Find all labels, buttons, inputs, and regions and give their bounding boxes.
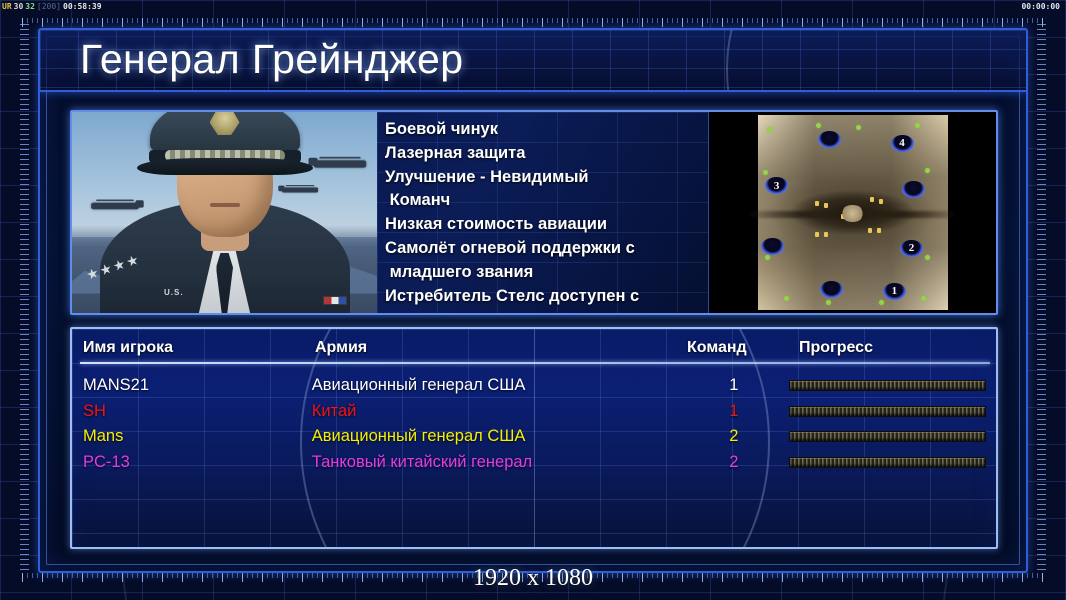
map-oil-marker (841, 214, 845, 219)
column-header-army: Армия (315, 339, 687, 357)
ability-item: Боевой чинук (385, 118, 698, 142)
cell-army: Китай (312, 402, 679, 421)
hud-left-clock: 00:58:39 (62, 2, 103, 11)
map-supply-marker (915, 123, 920, 128)
cell-team: 1 (679, 402, 789, 421)
map-oil-marker (815, 201, 819, 206)
hud-value-2: 32 (24, 2, 36, 11)
map-oil-marker (868, 228, 872, 233)
title-bar: Генерал Грейнджер (40, 30, 1026, 92)
officer-figure: U.S. (72, 112, 377, 313)
map-supply-marker (826, 300, 831, 305)
hud-ur-label: UR (1, 2, 13, 11)
map-start-position: 3 (765, 177, 788, 194)
cell-progress (789, 431, 996, 442)
map-supply-marker (784, 296, 789, 301)
map-supply-marker (763, 170, 768, 175)
table-header-row: Имя игрока Армия Команд Прогресс (72, 335, 996, 361)
map-start-position: 2 (900, 240, 923, 257)
hud-right-clock: 00:00:00 (1021, 0, 1060, 13)
hud-left-readout: UR3032[200]00:58:39 (1, 0, 103, 13)
hud-top-bar: UR3032[200]00:58:39 00:00:00 (0, 0, 1066, 13)
progress-bar (789, 431, 986, 442)
player-table: Имя игрока Армия Команд Прогресс (72, 329, 996, 361)
us-insignia-label: U.S. (164, 288, 184, 297)
cell-progress (789, 380, 996, 391)
service-ribbon-icon (323, 296, 347, 305)
map-supply-marker (921, 296, 926, 301)
main-frame: Генерал Грейнджер (38, 28, 1028, 573)
general-abilities-panel: Боевой чинук Лазерная защита Улучшение -… (377, 112, 708, 313)
map-start-position: 4 (891, 135, 914, 152)
column-header-player-name: Имя игрока (72, 339, 315, 357)
game-screen: UR3032[200]00:58:39 00:00:00 Генерал Гре… (0, 0, 1066, 600)
title-arc-decoration (726, 30, 1026, 92)
mouth (210, 203, 240, 207)
map-supply-marker (856, 125, 861, 130)
ability-list: Боевой чинук Лазерная защита Улучшение -… (385, 118, 698, 313)
column-header-progress: Прогресс (799, 339, 996, 357)
map-supply-marker (925, 255, 930, 260)
cell-progress (789, 406, 996, 417)
cell-progress (789, 457, 996, 468)
map-supply-marker (767, 127, 772, 132)
progress-bar (789, 406, 986, 417)
map-oil-marker (853, 216, 857, 221)
map-supply-marker (925, 168, 930, 173)
map-oil-marker (877, 228, 881, 233)
cell-team: 2 (679, 453, 789, 472)
map-supply-marker (879, 300, 884, 305)
map-preview[interactable]: 4321 (708, 112, 996, 313)
hud-bracket: [200] (36, 2, 62, 11)
ability-item: Улучшение - Невидимый Команч (385, 166, 698, 214)
player-rows: MANS21Авиационный генерал США1SHКитай1Ma… (72, 367, 996, 475)
resolution-label: 1920 x 1080 (0, 565, 1066, 592)
general-portrait: U.S. (72, 112, 377, 313)
map-supply-marker (816, 123, 821, 128)
table-row[interactable]: MansАвиационный генерал США2 (72, 424, 996, 450)
cell-team: 2 (679, 427, 789, 446)
map-image: 4321 (758, 115, 948, 310)
progress-bar (789, 380, 986, 391)
table-row[interactable]: MANS21Авиационный генерал США1 (72, 373, 996, 399)
cell-team: 1 (679, 376, 789, 395)
map-oil-marker (824, 232, 828, 237)
general-info-panel: U.S. Боевой чинук Лазерная защита Улучше… (70, 110, 998, 315)
map-oil-marker (879, 199, 883, 204)
map-start-position (902, 181, 925, 198)
cell-army: Авиационный генерал США (312, 376, 679, 395)
map-start-position (818, 131, 841, 148)
cell-army: Танковый китайский генерал (312, 453, 679, 472)
cell-player-name: MANS21 (72, 376, 312, 395)
ability-item: Лазерная защита (385, 142, 698, 166)
table-row[interactable]: PC-13Танковый китайский генерал2 (72, 450, 996, 476)
map-oil-marker (824, 203, 828, 208)
ability-item: Низкая стоимость авиации (385, 213, 698, 237)
map-oil-marker (870, 197, 874, 202)
ability-item: Истребитель Стелс доступен с начала (385, 285, 698, 313)
table-header-underline (80, 362, 990, 364)
cell-player-name: SH (72, 402, 312, 421)
map-oil-marker (815, 232, 819, 237)
cap-brim (137, 158, 313, 175)
hud-value-1: 30 (13, 2, 25, 11)
progress-bar (789, 457, 986, 468)
page-title: Генерал Грейнджер (80, 36, 463, 83)
map-supply-marker (765, 255, 770, 260)
player-list-panel: Имя игрока Армия Команд Прогресс MANS21А… (70, 327, 998, 549)
map-start-position (761, 238, 784, 255)
column-header-team: Команд (687, 339, 799, 357)
cell-player-name: Mans (72, 427, 312, 446)
map-start-position (820, 281, 843, 298)
map-start-position: 1 (883, 283, 906, 300)
table-row[interactable]: SHКитай1 (72, 399, 996, 425)
cell-army: Авиационный генерал США (312, 427, 679, 446)
ability-item: Самолёт огневой поддержки с младшего зва… (385, 237, 698, 285)
cell-player-name: PC-13 (72, 453, 312, 472)
